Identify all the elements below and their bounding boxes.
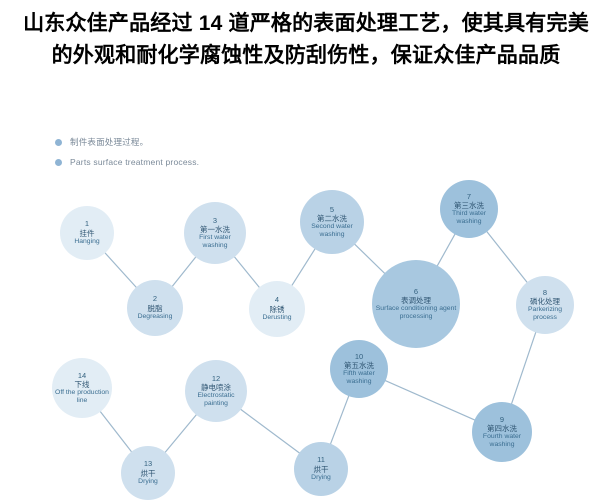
node-label-en: Derusting: [262, 314, 291, 322]
process-node-10[interactable]: 10第五水洗Fifth water washing: [330, 340, 388, 398]
process-node-13[interactable]: 13烘干Drying: [121, 446, 175, 500]
node-number: 5: [330, 206, 334, 214]
process-node-5[interactable]: 5第二水洗Second water washing: [300, 190, 364, 254]
node-label-en: Off the production line: [54, 389, 110, 404]
process-diagram: 制件表面处理过程。 Parts surface treatment proces…: [0, 128, 612, 500]
node-label-en: Parkerizing process: [518, 306, 572, 321]
edge-n10-n11: [330, 395, 349, 445]
node-label-cn: 第五水洗: [344, 362, 374, 370]
node-label-cn: 磷化处理: [530, 298, 560, 306]
process-node-14[interactable]: 14下线Off the production line: [52, 358, 112, 418]
node-label-cn: 第四水洗: [487, 425, 517, 433]
process-node-7[interactable]: 7第三水洗Third water washing: [440, 180, 498, 238]
legend-label-en: Parts surface treatment process.: [70, 157, 199, 167]
node-number: 1: [85, 220, 89, 228]
edge-n4-n5: [291, 248, 315, 286]
node-label-en: Hanging: [74, 238, 99, 246]
node-number: 12: [212, 375, 220, 383]
node-number: 9: [500, 416, 504, 424]
edge-n9-n10: [385, 380, 476, 420]
process-node-9[interactable]: 9第四水洗Fourth water washing: [472, 402, 532, 462]
process-node-4[interactable]: 4除锈Derusting: [249, 281, 305, 337]
node-label-en: Electrostatic painting: [187, 392, 245, 407]
legend-item: 制件表面处理过程。: [55, 134, 315, 150]
edge-n7-n8: [486, 231, 527, 283]
process-node-1[interactable]: 1挂件Hanging: [60, 206, 114, 260]
edge-n13-n14: [100, 411, 132, 453]
node-label-en: Drying: [138, 478, 158, 486]
node-label-en: Degreasing: [138, 313, 173, 321]
legend-label-cn: 制件表面处理过程。: [70, 136, 148, 148]
node-number: 11: [317, 456, 325, 464]
edge-n2-n3: [172, 256, 196, 286]
node-number: 7: [467, 193, 471, 201]
node-label-cn: 第一水洗: [200, 226, 230, 234]
node-number: 8: [543, 289, 547, 297]
node-number: 3: [213, 217, 217, 225]
diagram-legend: 制件表面处理过程。 Parts surface treatment proces…: [55, 134, 315, 174]
legend-dot-icon: [55, 139, 62, 146]
node-label-en: Third water washing: [442, 210, 496, 225]
node-label-en: Fourth water washing: [474, 433, 530, 448]
edge-n5-n6: [354, 244, 385, 274]
node-number: 13: [144, 460, 152, 468]
node-label-cn: 脱脂: [148, 305, 163, 313]
legend-item: Parts surface treatment process.: [55, 154, 315, 170]
process-node-6[interactable]: 6表调处理Surface conditioning agent processi…: [372, 260, 460, 348]
edge-n11-n12: [240, 409, 300, 454]
page-title: 山东众佳产品经过 14 道严格的表面处理工艺，使其具有完美的外观和耐化学腐蚀性及…: [0, 8, 612, 72]
process-node-8[interactable]: 8磷化处理Parkerizing process: [516, 276, 574, 334]
node-label-cn: 除锈: [270, 306, 285, 314]
node-label-en: Drying: [311, 474, 331, 482]
node-label-cn: 挂件: [80, 230, 95, 238]
node-label-en: Surface conditioning agent processing: [374, 305, 458, 320]
node-number: 14: [78, 372, 86, 380]
edge-n3-n4: [234, 256, 260, 288]
page-root: 山东众佳产品经过 14 道严格的表面处理工艺，使其具有完美的外观和耐化学腐蚀性及…: [0, 0, 612, 500]
node-label-cn: 表调处理: [401, 297, 431, 305]
node-number: 4: [275, 296, 279, 304]
node-number: 2: [153, 295, 157, 303]
edge-n6-n7: [437, 233, 455, 266]
process-node-3[interactable]: 3第一水洗First water washing: [184, 202, 246, 264]
node-number: 10: [355, 353, 363, 361]
process-node-12[interactable]: 12静电喷涂Electrostatic painting: [185, 360, 247, 422]
node-number: 6: [414, 288, 418, 296]
edge-n12-n13: [165, 414, 197, 453]
node-label-cn: 下线: [75, 381, 90, 389]
node-label-cn: 静电喷涂: [201, 384, 231, 392]
node-label-cn: 第三水洗: [454, 202, 484, 210]
node-label-en: Fifth water washing: [332, 370, 386, 385]
process-node-11[interactable]: 11烘干Drying: [294, 442, 348, 496]
node-label-cn: 烘干: [141, 470, 156, 478]
process-node-2[interactable]: 2脱脂Degreasing: [127, 280, 183, 336]
legend-dot-icon: [55, 159, 62, 166]
edge-n1-n2: [104, 252, 136, 288]
node-label-cn: 烘干: [314, 466, 329, 474]
edge-n8-n9: [511, 332, 536, 405]
node-label-en: Second water washing: [302, 223, 362, 238]
node-label-cn: 第二水洗: [317, 215, 347, 223]
node-label-en: First water washing: [186, 234, 244, 249]
